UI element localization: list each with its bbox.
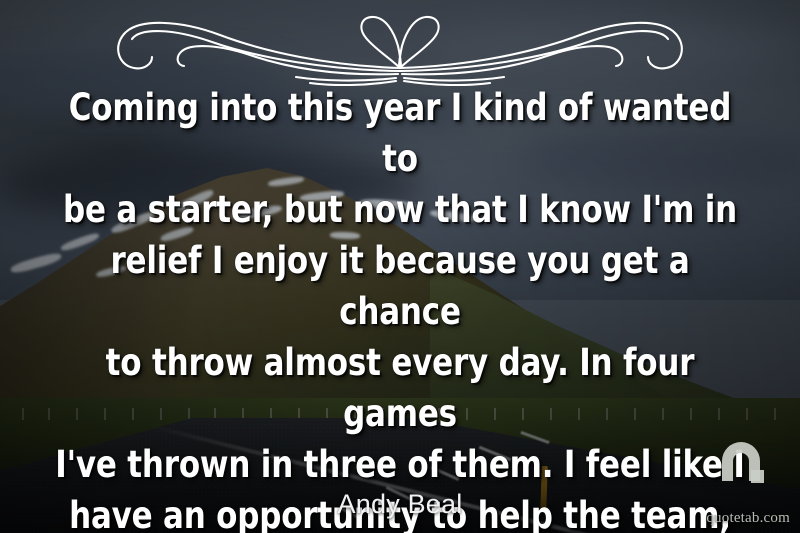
quote-author: Andy Beal (0, 489, 800, 520)
quote-line: relief I enjoy it because you get a chan… (48, 235, 751, 337)
card-content: Coming into this year I kind of wanted t… (0, 0, 800, 533)
quote-line: be a starter, but now that I know I'm in (48, 184, 751, 235)
watermark-text[interactable]: quotetab.com (706, 510, 790, 527)
quote-line: Coming into this year I kind of wanted t… (48, 82, 751, 184)
quote-line: I've thrown in three of them. I feel lik… (48, 439, 751, 490)
quote-card: Coming into this year I kind of wanted t… (0, 0, 800, 533)
quote-line: to throw almost every day. In four games (48, 337, 751, 439)
quote-text: Coming into this year I kind of wanted t… (48, 82, 751, 533)
decorative-flourish-icon (60, 8, 740, 86)
quotetab-logo-icon[interactable] (716, 437, 782, 497)
